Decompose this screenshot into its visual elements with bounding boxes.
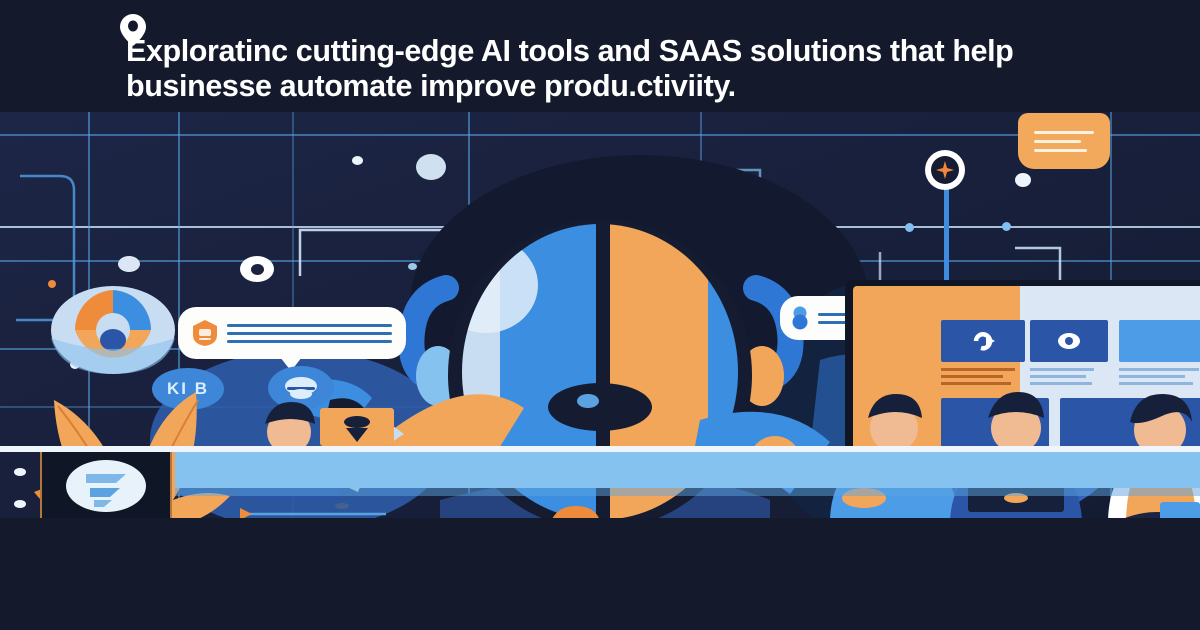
- eye-node[interactable]: [240, 256, 274, 282]
- bottom-caption-band: Exploratin of tcuttinge all help busines…: [0, 518, 1200, 630]
- conveyor-desk-bar: [175, 452, 1200, 488]
- dollar-icon: [791, 306, 809, 330]
- orange-note-card[interactable]: [1018, 113, 1110, 169]
- sparkle-icon: [936, 161, 954, 179]
- node-dot: [14, 500, 26, 508]
- refresh-tile[interactable]: [941, 320, 1025, 362]
- screenshot-canvas: KI B: [0, 0, 1200, 630]
- node-dot: [14, 468, 26, 476]
- eye-icon: [251, 264, 264, 275]
- hero-illustration: KI B: [0, 110, 1200, 520]
- record-icon: [1057, 332, 1081, 350]
- refresh-icon: [970, 330, 996, 352]
- flow-logo-icon: [64, 458, 148, 514]
- record-tile[interactable]: [1030, 320, 1108, 362]
- top-caption-band: Exploratinc cutting-edge AI tools and SA…: [0, 0, 1200, 112]
- sparkle-node[interactable]: [925, 150, 965, 190]
- conveyor-shadow: [175, 488, 1200, 496]
- tablet-logo-screen[interactable]: [40, 446, 172, 520]
- chat-card-left-lines: [227, 324, 392, 343]
- chart-tile[interactable]: [1119, 320, 1200, 362]
- top-headline: Exploratinc cutting-edge AI tools and SA…: [126, 34, 1126, 105]
